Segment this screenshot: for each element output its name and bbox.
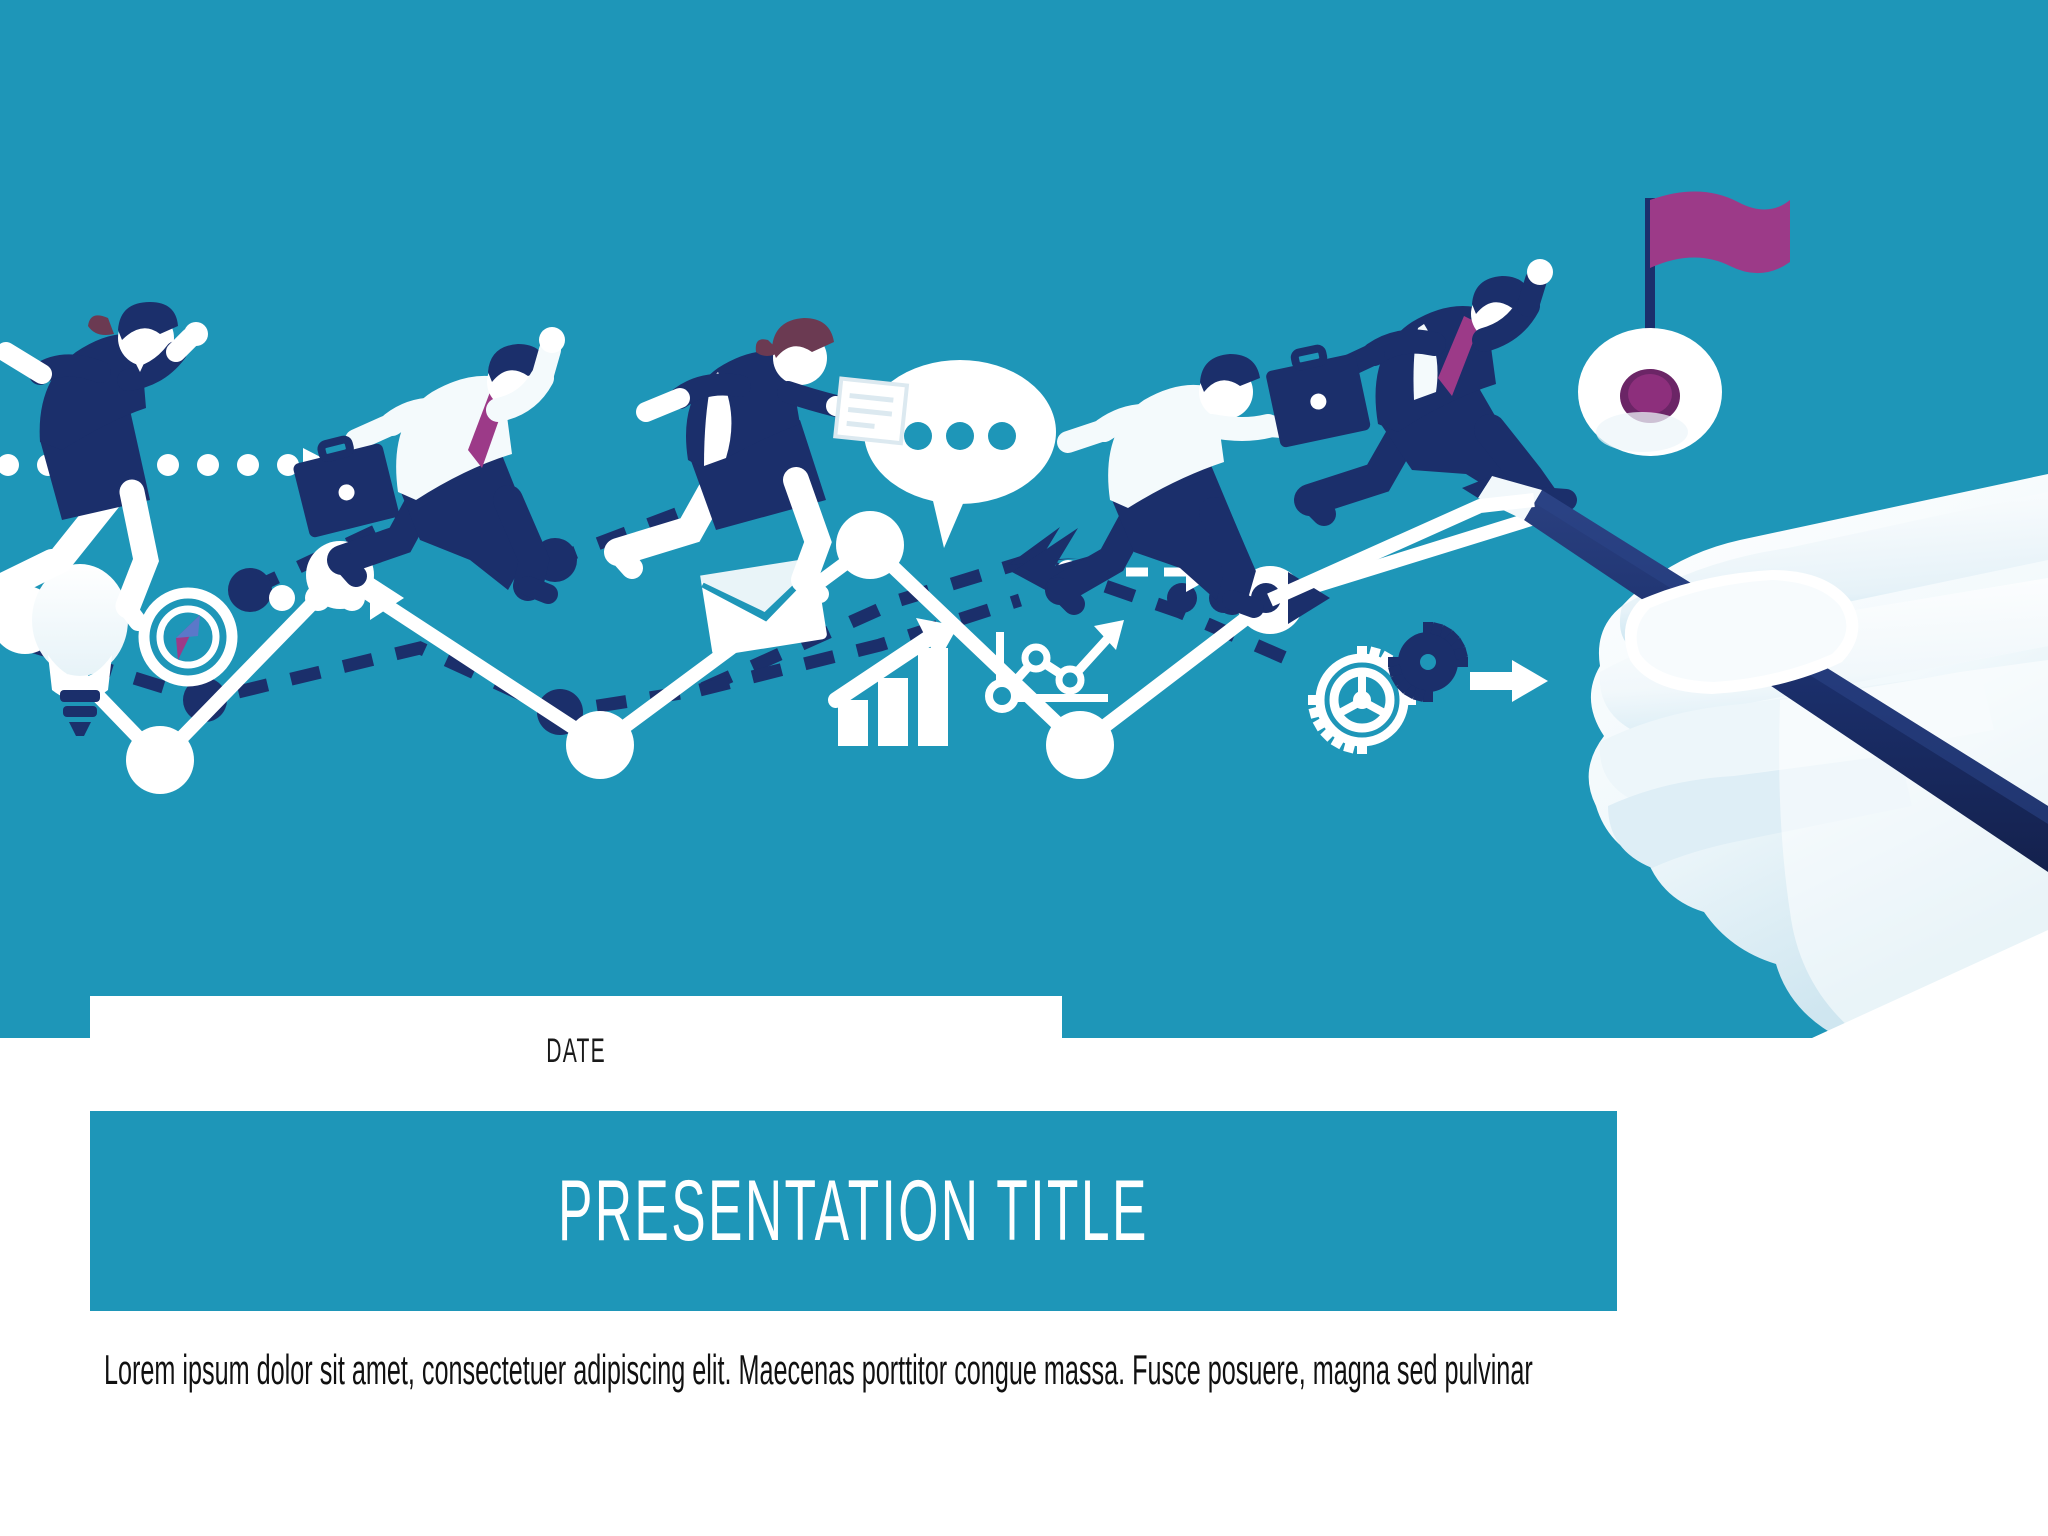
presentation-title: PRESENTATION TITLE <box>558 1162 1149 1261</box>
date-label: DATE <box>546 1032 606 1071</box>
business-journey-illustration <box>0 0 2048 1038</box>
title-bar[interactable]: PRESENTATION TITLE <box>90 1111 1617 1311</box>
body-text-block[interactable]: Lorem ipsum dolor sit amet, consectetuer… <box>104 1340 1664 1401</box>
path-node <box>126 726 194 794</box>
date-placeholder-box[interactable]: DATE <box>90 996 1062 1106</box>
body-text: Lorem ipsum dolor sit amet, consectetuer… <box>104 1340 1664 1401</box>
target-hole-icon <box>1578 328 1722 456</box>
path-node <box>836 511 904 579</box>
path-node <box>1046 711 1114 779</box>
compass-icon <box>144 593 232 681</box>
path-node <box>566 711 634 779</box>
hero-illustration <box>0 0 2048 1038</box>
presentation-slide: DATE PRESENTATION TITLE Lorem ipsum dolo… <box>0 0 2048 1536</box>
